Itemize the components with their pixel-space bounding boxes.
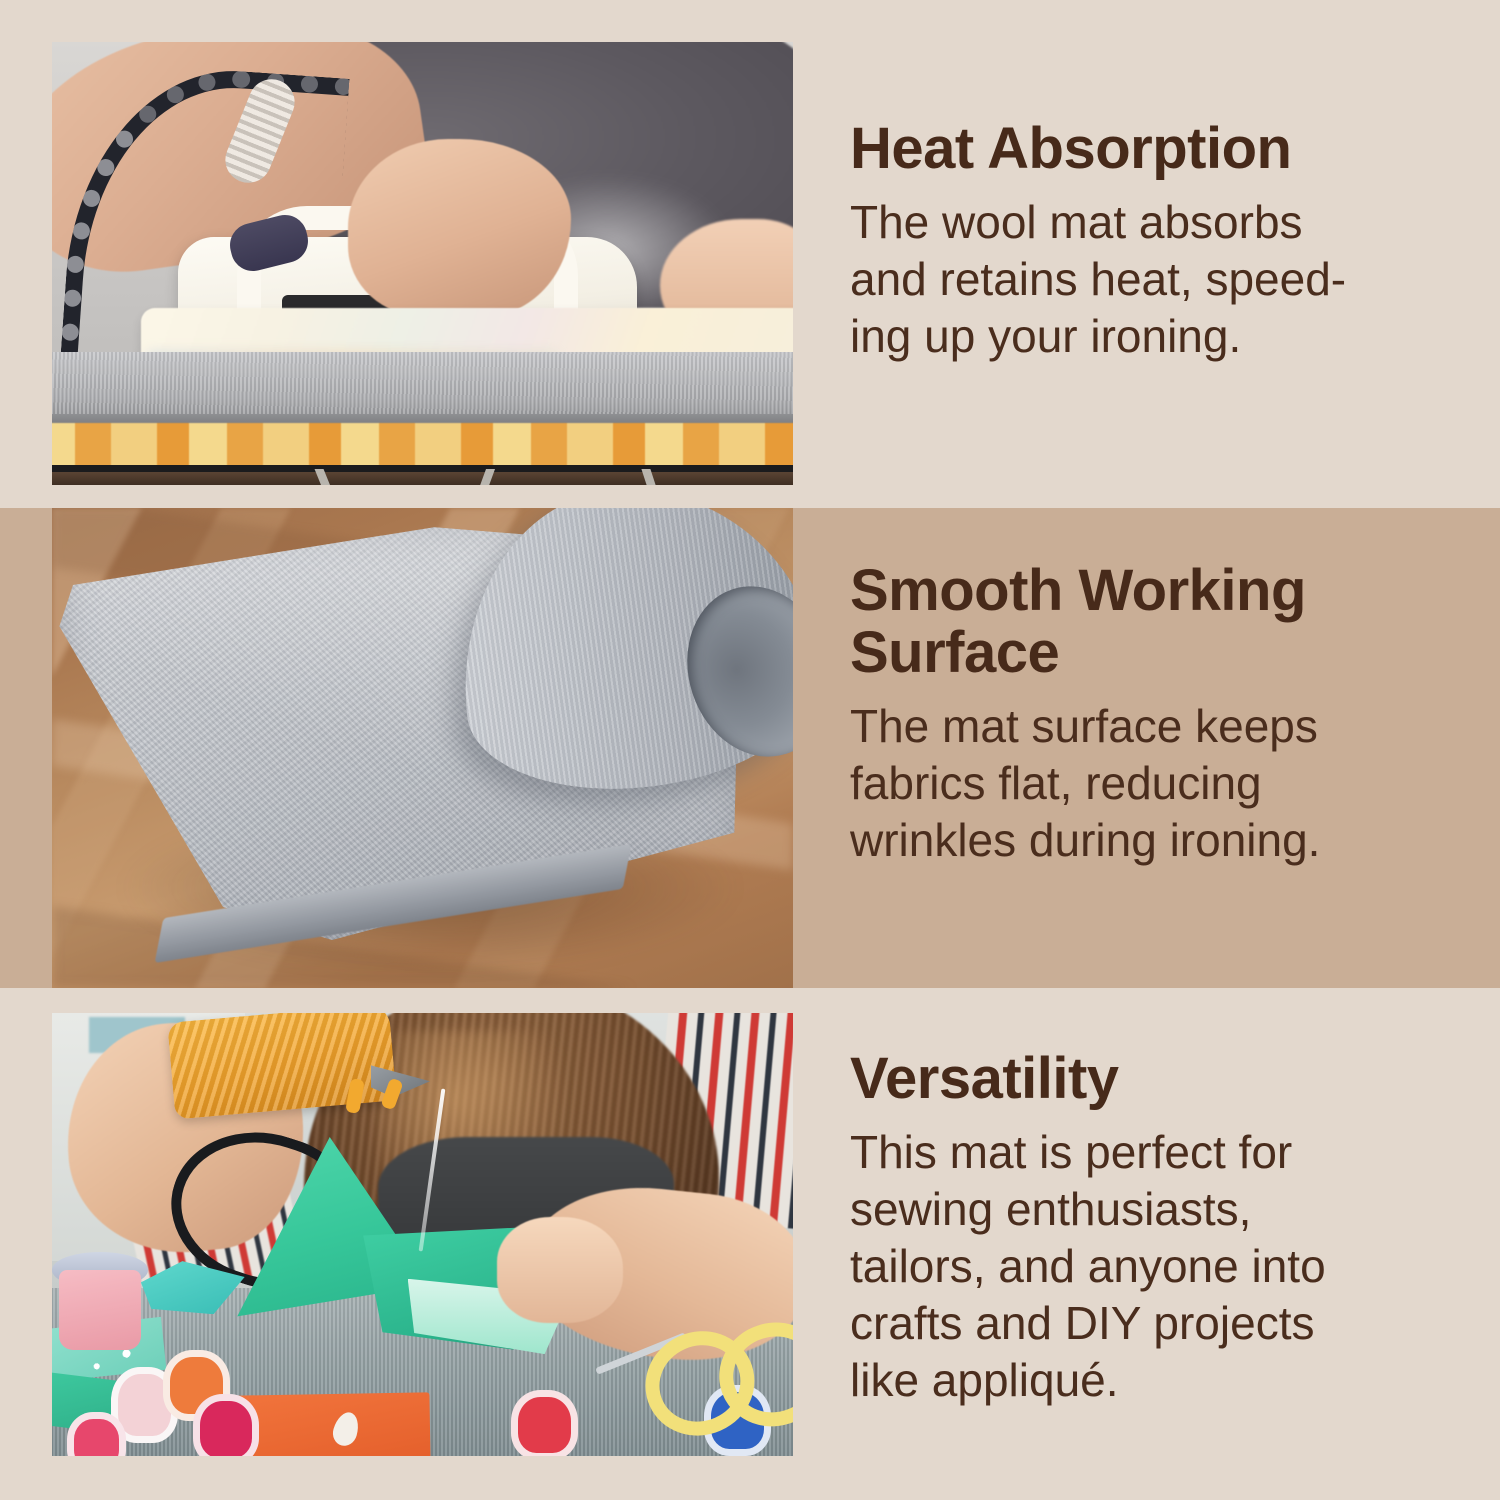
photo-crafting-with-glue-gun xyxy=(52,1013,793,1456)
feature-heading: Smooth Working Surface xyxy=(850,560,1460,684)
feature-body: The wool mat absorbs and retains heat, s… xyxy=(850,194,1460,365)
photo3-paint-pot xyxy=(67,1412,126,1456)
feature-copy-smooth-working-surface: Smooth Working Surface The mat surface k… xyxy=(793,508,1500,869)
photo3-right-hand xyxy=(497,1217,623,1323)
photo3-pink-container xyxy=(59,1270,141,1350)
feature-body: The mat surface keeps fabrics flat, redu… xyxy=(850,698,1460,869)
feature-heading: Versatility xyxy=(850,1048,1460,1110)
feature-panel-smooth-working-surface: Smooth Working Surface The mat surface k… xyxy=(0,508,1500,988)
photo3-paint-pot xyxy=(193,1394,260,1456)
feature-copy-versatility: Versatility This mat is perfect for sewi… xyxy=(793,988,1500,1409)
photo3-paint-pot xyxy=(511,1390,578,1456)
feature-panel-versatility: Versatility This mat is perfect for sewi… xyxy=(0,988,1500,1500)
photo-ironing-on-wool-mat xyxy=(52,42,793,485)
photo1-gripping-hand xyxy=(348,139,570,316)
feature-heading: Heat Absorption xyxy=(850,118,1460,180)
photo3-orange-paper xyxy=(229,1392,430,1456)
photo-wool-mat-rolled-corner xyxy=(52,508,793,988)
photo1-board-frame xyxy=(52,472,793,485)
feature-body: This mat is perfect for sewing enthusias… xyxy=(850,1124,1460,1409)
product-feature-infographic: Heat Absorption The wool mat absorbs and… xyxy=(0,0,1500,1500)
feature-copy-heat-absorption: Heat Absorption The wool mat absorbs and… xyxy=(793,0,1500,365)
feature-panel-heat-absorption: Heat Absorption The wool mat absorbs and… xyxy=(0,0,1500,508)
